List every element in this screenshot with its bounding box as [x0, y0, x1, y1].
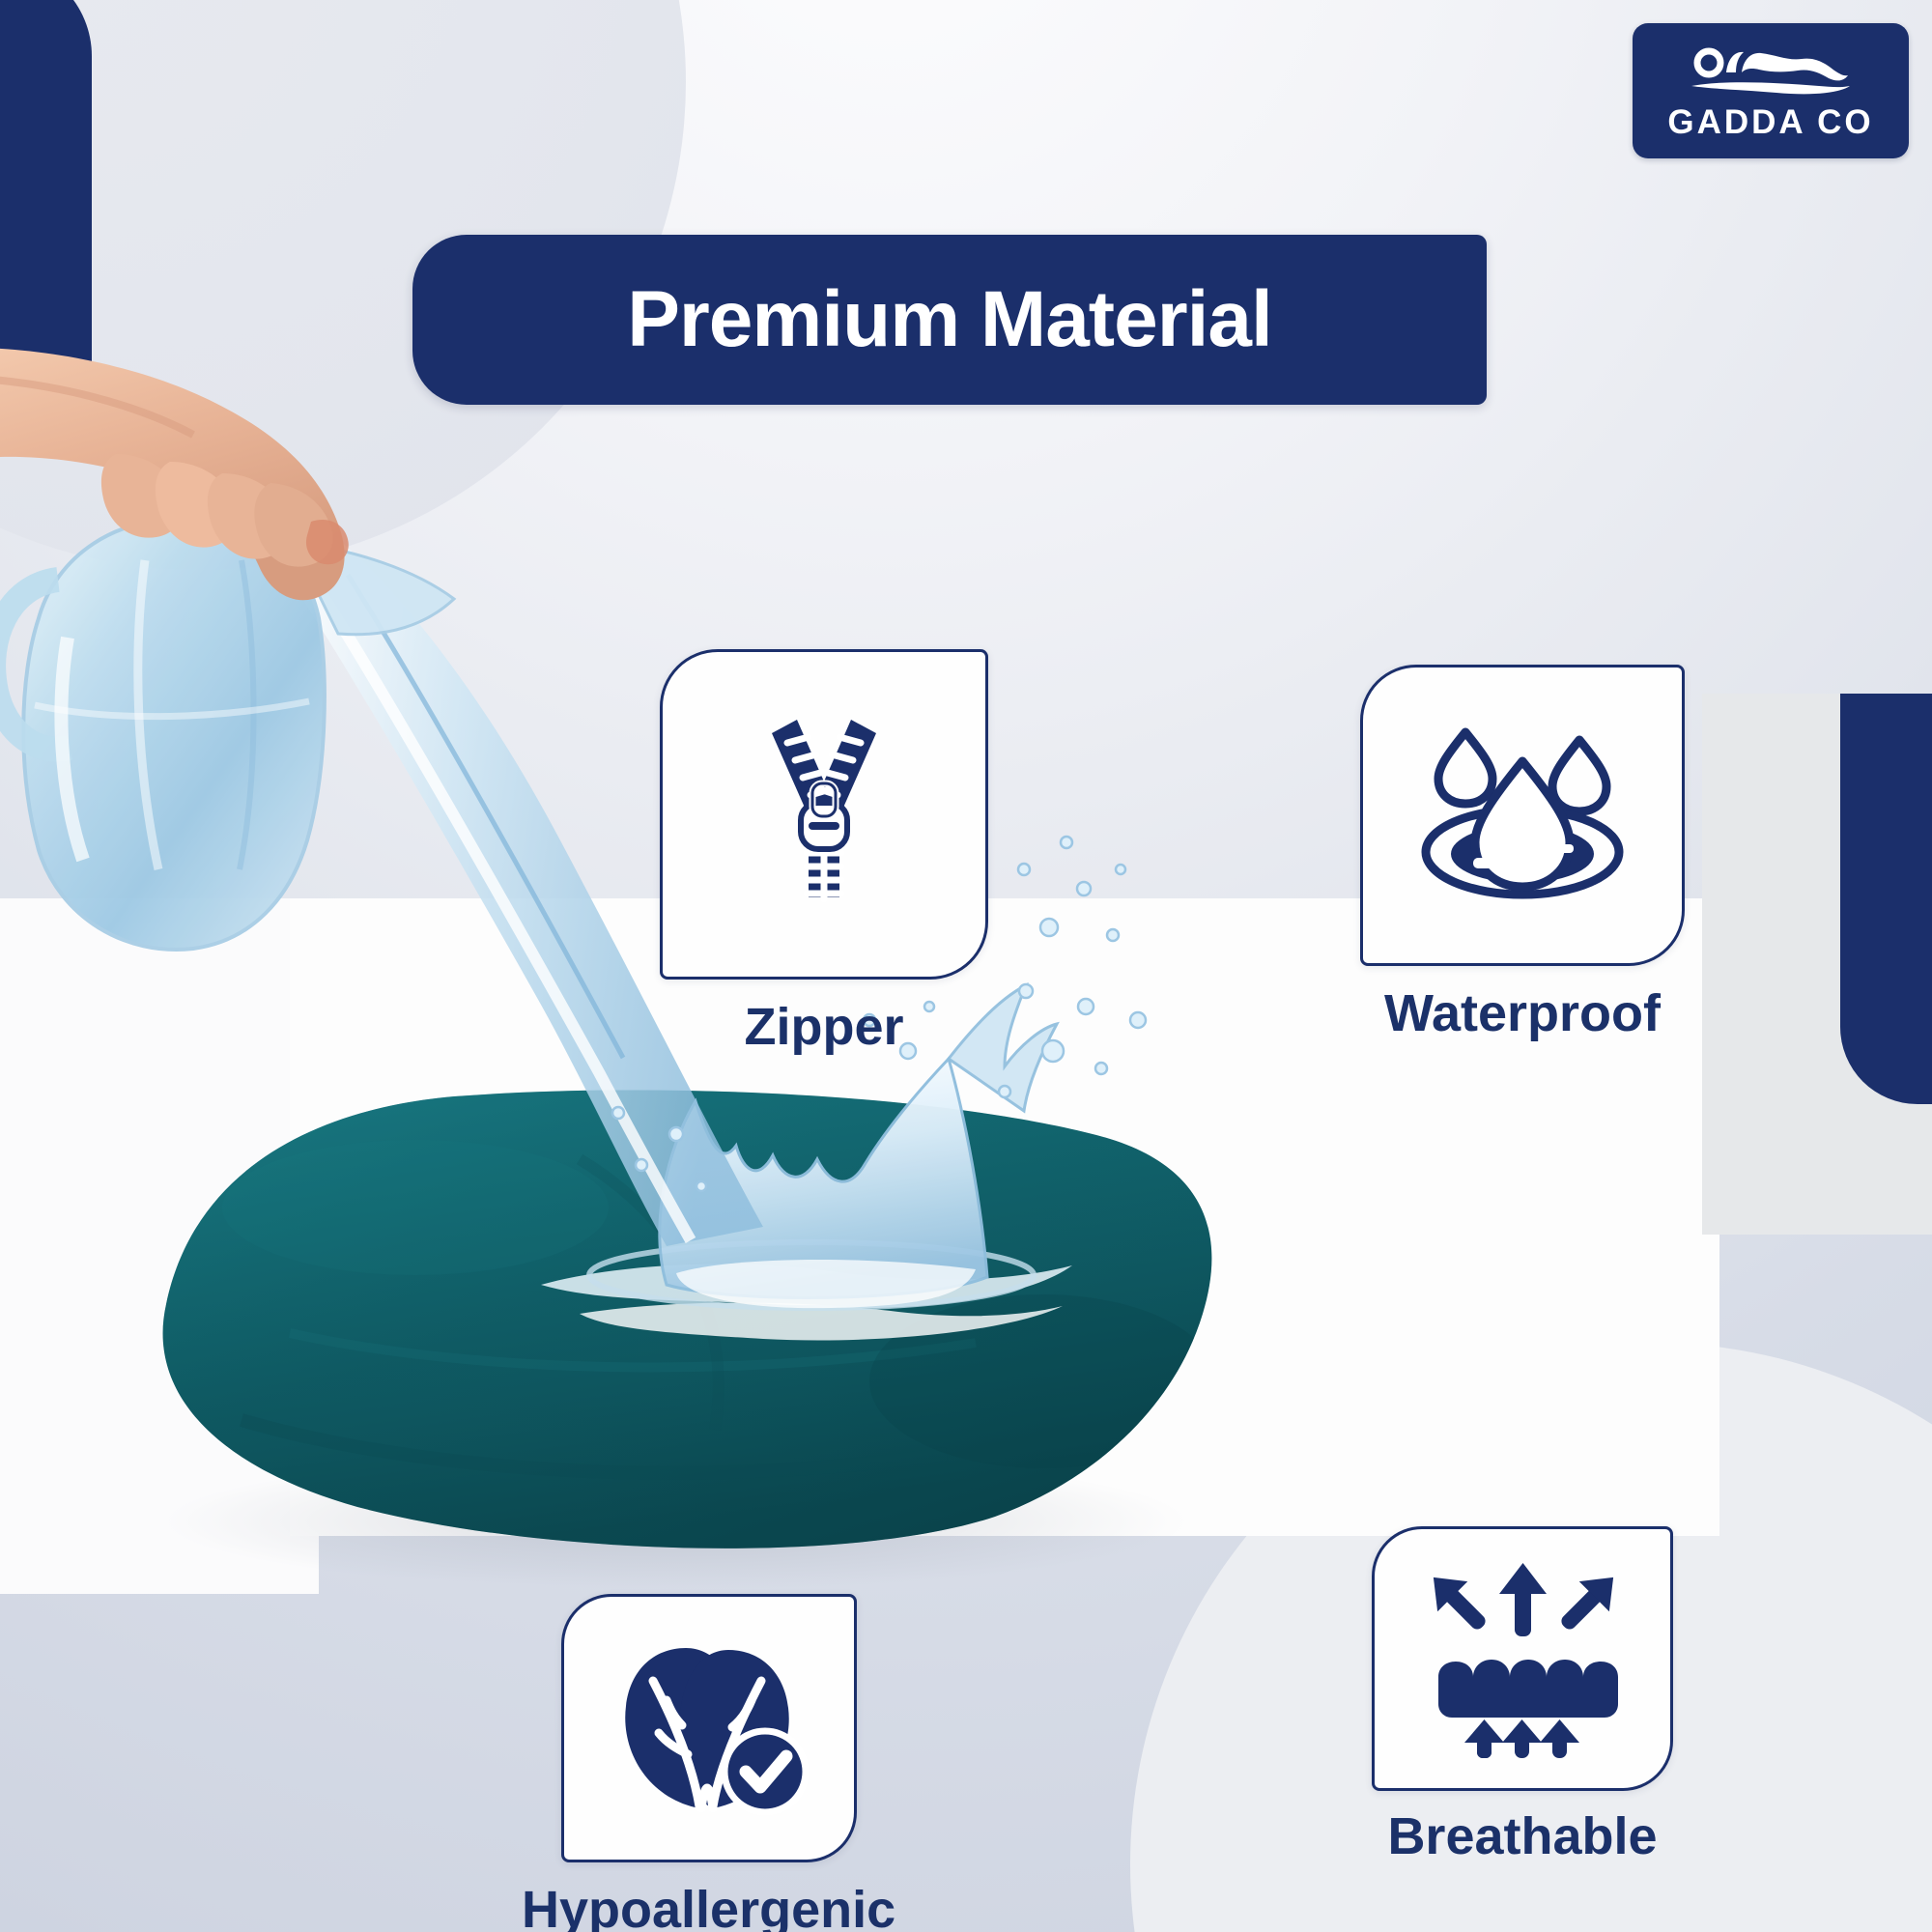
poster-canvas: GADDA CO Premium Material [0, 0, 1932, 1932]
feature-badge-waterproof[interactable]: Waterproof [1360, 665, 1685, 1039]
leaves-check-icon [605, 1636, 813, 1820]
brand-logo[interactable]: GADDA CO [1633, 23, 1909, 158]
feature-label-breathable: Breathable [1387, 1810, 1657, 1862]
feature-badge-hypoallergenic[interactable]: Hypoallergenic [522, 1594, 895, 1932]
feature-badge-zipper[interactable]: Zipper [660, 649, 988, 1053]
feature-badge-breathable[interactable]: Breathable [1372, 1526, 1673, 1862]
airflow-arrows-mattress-icon [1417, 1559, 1628, 1758]
feature-label-zipper: Zipper [744, 1001, 903, 1053]
title-banner: Premium Material [412, 235, 1487, 405]
feature-label-waterproof: Waterproof [1384, 987, 1661, 1039]
feature-card-breathable [1372, 1526, 1673, 1791]
zipper-icon [737, 708, 911, 921]
feature-label-hypoallergenic: Hypoallergenic [522, 1884, 895, 1932]
feature-card-waterproof [1360, 665, 1685, 966]
feature-card-zipper [660, 649, 988, 980]
brand-logo-text: GADDA CO [1667, 105, 1873, 139]
sleeping-person-mattress-icon [1684, 43, 1858, 103]
page-title: Premium Material [627, 280, 1272, 359]
feature-card-hypoallergenic [561, 1594, 857, 1862]
water-droplet-splash-icon [1411, 719, 1634, 912]
